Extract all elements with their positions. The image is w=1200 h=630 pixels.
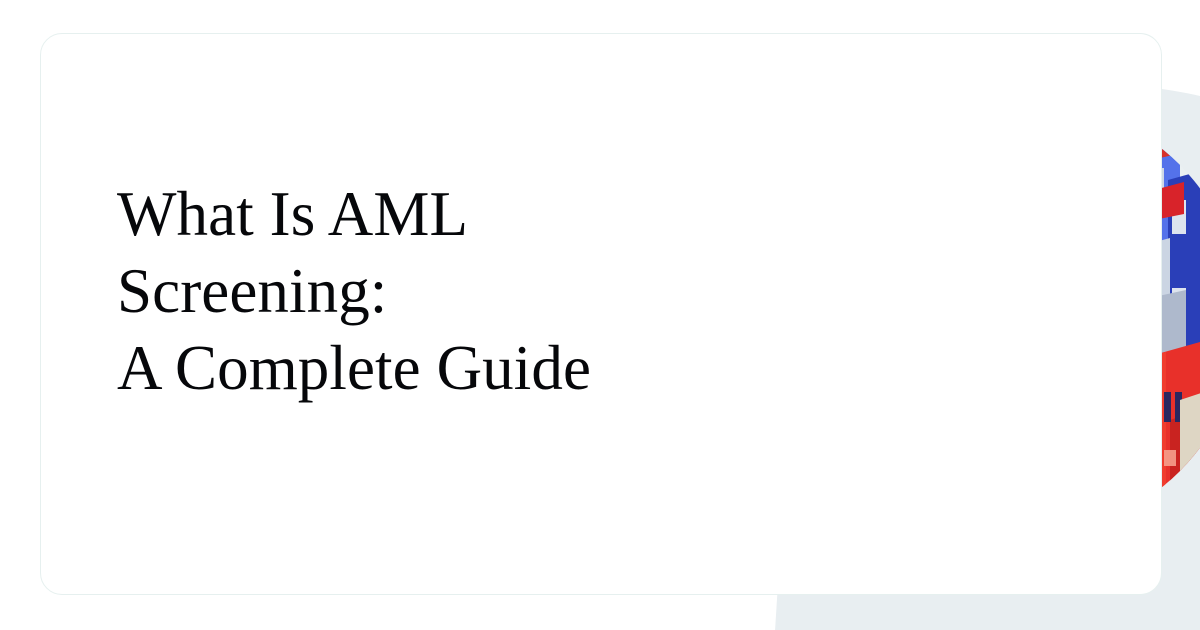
hero-canvas: What Is AML Screening: A Complete Guide [0, 0, 1200, 630]
title-line-2: Screening: [117, 253, 717, 330]
page-title: What Is AML Screening: A Complete Guide [117, 176, 717, 407]
title-line-1: What Is AML [117, 176, 717, 253]
title-line-3: A Complete Guide [117, 330, 717, 407]
